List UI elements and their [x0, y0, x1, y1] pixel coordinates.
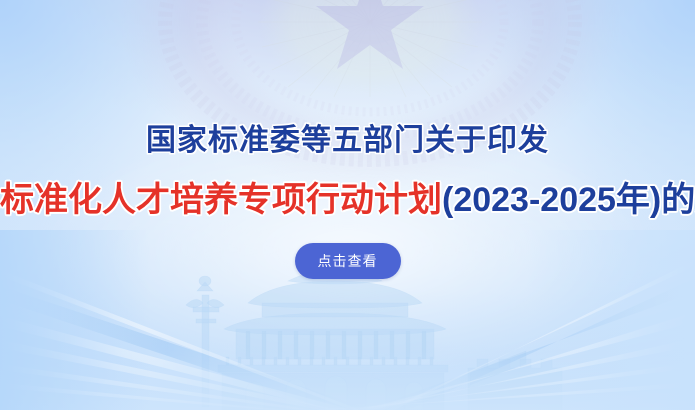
banner-content: 国家标准委等五部门关于印发 标准化人才培养专项行动计划(2023-2025年)的…: [0, 0, 695, 410]
banner-title-line-2: 标准化人才培养专项行动计划(2023-2025年)的通知: [0, 181, 695, 219]
banner-title-suffix: (2023-2025年)的通知: [442, 181, 695, 219]
view-details-button[interactable]: 点击查看: [295, 243, 401, 279]
banner-title-highlight: 标准化人才培养专项行动计划: [0, 181, 442, 219]
cta-container: 点击查看: [0, 243, 695, 279]
banner-title-line-1: 国家标准委等五部门关于印发: [0, 124, 695, 158]
notice-banner: 国家标准委等五部门关于印发 标准化人才培养专项行动计划(2023-2025年)的…: [0, 0, 695, 410]
